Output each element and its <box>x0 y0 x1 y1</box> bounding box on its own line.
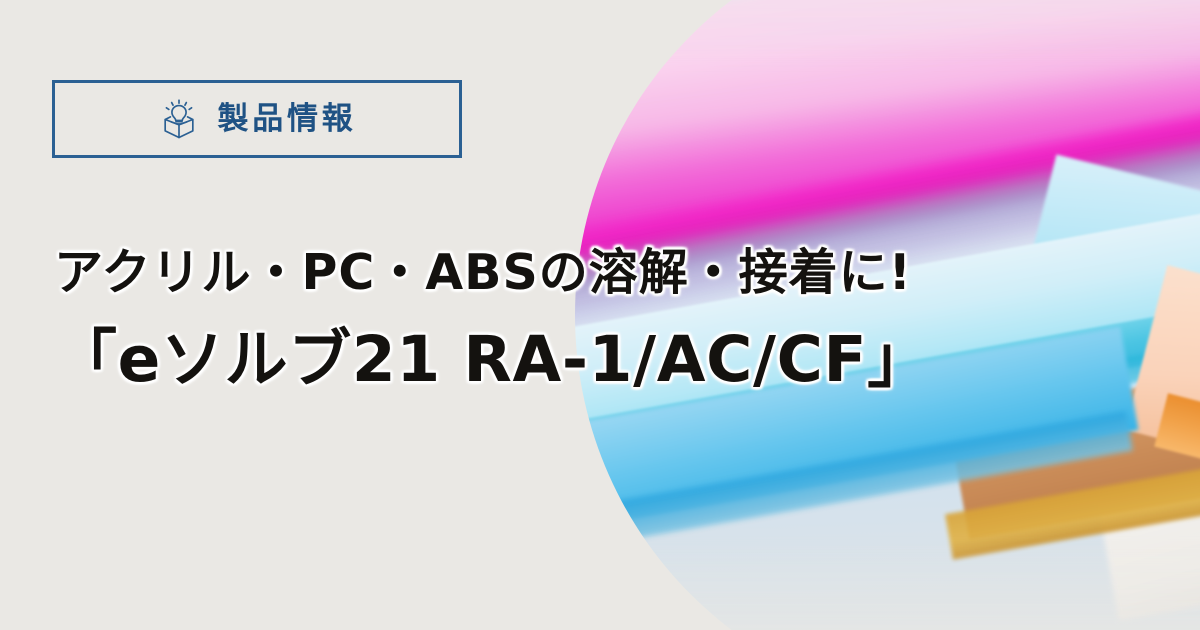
headline-line-2: 「eソルブ21 RA-1/AC/CF」 <box>54 322 1174 399</box>
headline-block: アクリル・PC・ABSの溶解・接着に! 「eソルブ21 RA-1/AC/CF」 <box>54 244 1174 399</box>
lightbulb-in-open-box-icon <box>158 98 200 140</box>
category-badge-label: 製品情報 <box>218 104 357 135</box>
depth-of-field-top-blur <box>575 0 1200 60</box>
headline-line-1: アクリル・PC・ABSの溶解・接着に! <box>54 244 1174 302</box>
category-badge[interactable]: 製品情報 <box>52 80 462 158</box>
depth-of-field-bottom-blur <box>575 540 1200 630</box>
product-info-og-card: 製品情報 アクリル・PC・ABSの溶解・接着に! 「eソルブ21 RA-1/AC… <box>0 0 1200 630</box>
